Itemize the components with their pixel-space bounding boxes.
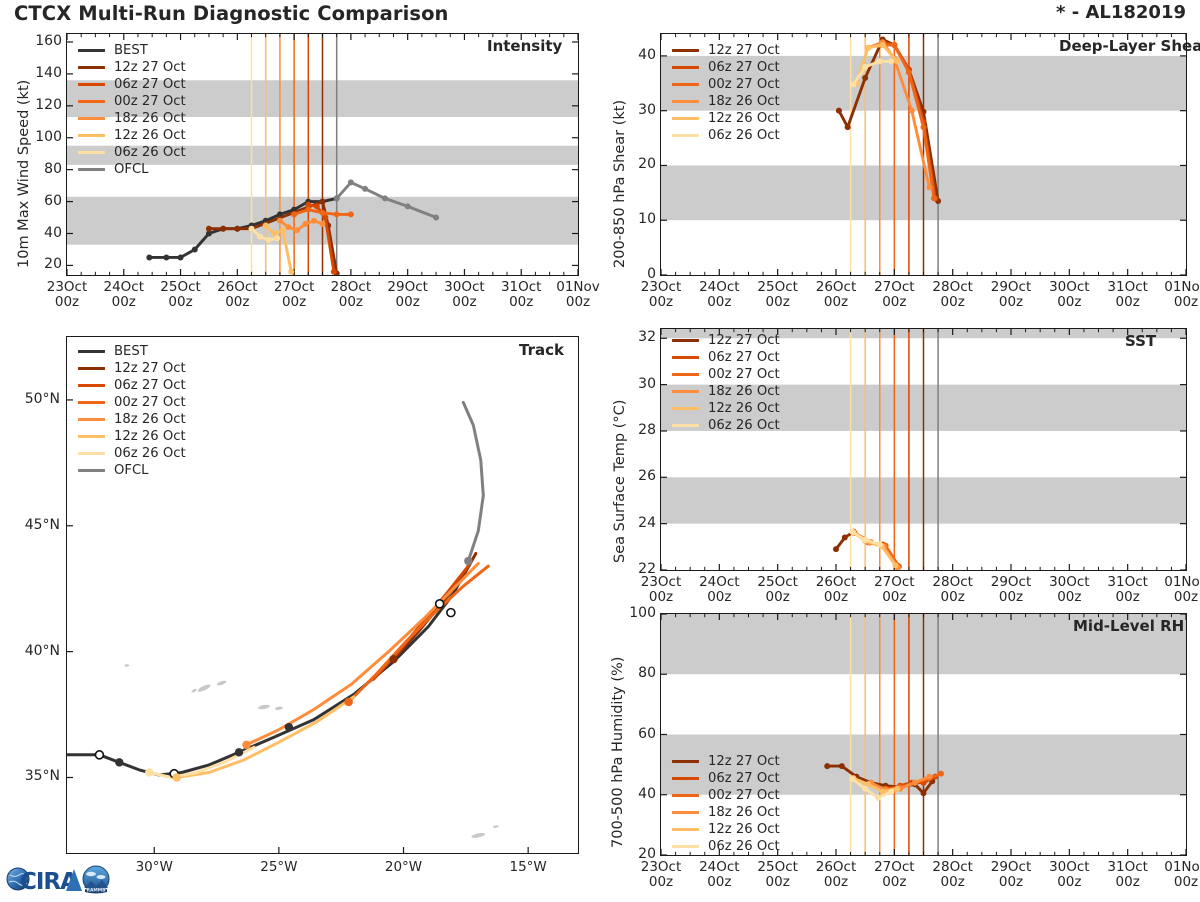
x-tick-label: 01Nov00z: [1156, 860, 1200, 890]
legend-swatch: [672, 373, 699, 377]
x-tick-label: 23Oct00z: [37, 280, 97, 310]
legend-swatch: [672, 760, 699, 764]
x-tick-label: 25Oct00z: [748, 280, 808, 310]
x-tick-label: 24Oct00z: [689, 575, 749, 605]
x-tick-label: 26Oct00z: [806, 280, 866, 310]
legend-item-18z-26-oct[interactable]: 18z 26 Oct: [672, 804, 780, 821]
x-tick-label: 31Oct00z: [1098, 575, 1158, 605]
lat-tick-label: 45°N: [10, 517, 60, 533]
legend-label: 06z 27 Oct: [708, 60, 780, 75]
legend-swatch: [78, 384, 105, 388]
x-tick-label: 27Oct00z: [864, 860, 924, 890]
legend-item-00z-27-oct[interactable]: 00z 27 Oct: [672, 76, 780, 93]
x-tick-label: 29Oct00z: [981, 280, 1041, 310]
x-tick-label: 30Oct00z: [1039, 575, 1099, 605]
lon-tick-label: 25°W: [249, 860, 309, 875]
legend-swatch: [78, 134, 105, 138]
x-tick-label: 23Oct00z: [631, 280, 691, 310]
legend-item-12z-26-oct[interactable]: 12z 26 Oct: [672, 400, 780, 417]
legend-swatch: [78, 418, 105, 422]
legend-item-06z-27-oct[interactable]: 06z 27 Oct: [672, 349, 780, 366]
legend-item-best[interactable]: BEST: [78, 343, 186, 360]
x-tick-label: 25Oct00z: [748, 575, 808, 605]
storm-id-label: * - AL182019: [1056, 2, 1186, 23]
legend-label: 12z 27 Oct: [114, 60, 186, 75]
rh-legend[interactable]: 12z 27 Oct06z 27 Oct00z 27 Oct18z 26 Oct…: [672, 753, 780, 855]
x-tick-label: 27Oct00z: [864, 575, 924, 605]
legend-item-best[interactable]: BEST: [78, 42, 186, 59]
legend-swatch: [672, 83, 699, 87]
y-tick-label: 40: [14, 225, 62, 241]
legend-label: 18z 26 Oct: [114, 412, 186, 427]
sst-legend[interactable]: 12z 27 Oct06z 27 Oct00z 27 Oct18z 26 Oct…: [672, 332, 780, 434]
legend-item-18z-26-oct[interactable]: 18z 26 Oct: [78, 411, 186, 428]
y-tick-label: 26: [608, 468, 656, 484]
legend-item-12z-27-oct[interactable]: 12z 27 Oct: [672, 42, 780, 59]
x-tick-label: 28Oct00z: [923, 860, 983, 890]
legend-label: 18z 26 Oct: [114, 111, 186, 126]
x-tick-label: 26Oct00z: [806, 860, 866, 890]
y-tick-label: 40: [608, 786, 656, 802]
legend-swatch: [78, 469, 105, 473]
y-tick-label: 100: [14, 129, 62, 145]
y-tick-label: 20: [14, 256, 62, 272]
legend-label: 12z 26 Oct: [708, 401, 780, 416]
y-tick-label: 10: [608, 211, 656, 227]
diagnostic-comparison-page: CTCX Multi-Run Diagnostic Comparison * -…: [0, 0, 1200, 900]
legend-swatch: [78, 66, 105, 70]
legend-label: 12z 26 Oct: [114, 128, 186, 143]
lon-tick-label: 15°W: [498, 860, 558, 875]
lat-tick-label: 50°N: [10, 391, 60, 407]
lat-tick-label: 40°N: [10, 643, 60, 659]
legend-item-12z-26-oct[interactable]: 12z 26 Oct: [672, 110, 780, 127]
y-tick-label: 30: [608, 376, 656, 392]
legend-label: 12z 27 Oct: [708, 333, 780, 348]
legend-item-12z-26-oct[interactable]: 12z 26 Oct: [78, 428, 186, 445]
legend-item-ofcl[interactable]: OFCL: [78, 161, 186, 178]
shear-panel-title: Deep-Layer Shear: [1059, 37, 1200, 55]
legend-swatch: [78, 350, 105, 354]
legend-swatch: [672, 407, 699, 411]
legend-label: OFCL: [114, 463, 149, 478]
x-tick-label: 31Oct00z: [1098, 280, 1158, 310]
y-tick-label: 28: [608, 422, 656, 438]
x-tick-label: 29Oct00z: [981, 860, 1041, 890]
x-tick-label: 25Oct00z: [748, 860, 808, 890]
legend-label: 18z 26 Oct: [708, 384, 780, 399]
y-tick-label: 60: [14, 193, 62, 209]
legend-swatch: [672, 117, 699, 121]
legend-label: 12z 27 Oct: [114, 361, 186, 376]
legend-item-18z-26-oct[interactable]: 18z 26 Oct: [78, 110, 186, 127]
legend-label: 06z 27 Oct: [708, 350, 780, 365]
legend-swatch: [78, 49, 105, 53]
legend-item-00z-27-oct[interactable]: 00z 27 Oct: [78, 93, 186, 110]
legend-item-12z-26-oct[interactable]: 12z 26 Oct: [78, 127, 186, 144]
svg-text:RAMMB: RAMMB: [87, 888, 107, 894]
legend-item-06z-26-oct[interactable]: 06z 26 Oct: [672, 127, 780, 144]
y-tick-label: 100: [608, 605, 656, 621]
x-tick-label: 01Nov00z: [1156, 280, 1200, 310]
y-tick-label: 140: [14, 65, 62, 81]
x-tick-label: 24Oct00z: [94, 280, 154, 310]
legend-label: 06z 26 Oct: [708, 128, 780, 143]
legend-swatch: [78, 367, 105, 371]
legend-label: 12z 26 Oct: [708, 111, 780, 126]
y-tick-label: 80: [608, 665, 656, 681]
shear-y-axis-label: 200-850 hPa Shear (kt): [612, 100, 628, 268]
x-tick-label: 24Oct00z: [689, 280, 749, 310]
x-tick-label: 30Oct00z: [434, 280, 494, 310]
legend-swatch: [672, 777, 699, 781]
legend-swatch: [78, 168, 105, 172]
page-title: CTCX Multi-Run Diagnostic Comparison: [14, 2, 449, 25]
track-legend[interactable]: BEST12z 27 Oct06z 27 Oct00z 27 Oct18z 26…: [78, 343, 186, 479]
rh-y-axis-label: 700-500 hPa Humidity (%): [610, 657, 626, 848]
legend-item-06z-26-oct[interactable]: 06z 26 Oct: [672, 838, 780, 855]
legend-item-12z-27-oct[interactable]: 12z 27 Oct: [78, 59, 186, 76]
legend-label: 12z 27 Oct: [708, 43, 780, 58]
legend-label: 00z 27 Oct: [708, 77, 780, 92]
legend-swatch: [672, 356, 699, 360]
x-tick-label: 26Oct00z: [806, 575, 866, 605]
legend-item-06z-27-oct[interactable]: 06z 27 Oct: [672, 770, 780, 787]
legend-swatch: [672, 794, 699, 798]
legend-item-12z-27-oct[interactable]: 12z 27 Oct: [672, 332, 780, 349]
y-tick-label: 30: [608, 102, 656, 118]
legend-swatch: [672, 49, 699, 53]
x-tick-label: 01Nov00z: [548, 280, 608, 310]
legend-item-18z-26-oct[interactable]: 18z 26 Oct: [672, 383, 780, 400]
legend-swatch: [672, 66, 699, 70]
x-tick-label: 29Oct00z: [378, 280, 438, 310]
lat-tick-label: 35°N: [10, 768, 60, 784]
rh-panel-title: Mid-Level RH: [1073, 617, 1184, 635]
legend-swatch: [78, 83, 105, 87]
legend-swatch: [672, 828, 699, 832]
legend-label: 18z 26 Oct: [708, 94, 780, 109]
x-tick-label: 28Oct00z: [321, 280, 381, 310]
x-tick-label: 30Oct00z: [1039, 860, 1099, 890]
track-panel-title: Track: [519, 341, 564, 359]
legend-label: OFCL: [114, 162, 149, 177]
y-tick-label: 40: [608, 47, 656, 63]
sst-panel-title: SST: [1125, 332, 1156, 350]
legend-label: 00z 27 Oct: [114, 395, 186, 410]
x-tick-label: 28Oct00z: [923, 575, 983, 605]
legend-label: 06z 27 Oct: [114, 77, 186, 92]
legend-item-06z-27-oct[interactable]: 06z 27 Oct: [78, 76, 186, 93]
legend-swatch: [672, 390, 699, 394]
legend-item-12z-27-oct[interactable]: 12z 27 Oct: [78, 360, 186, 377]
legend-item-ofcl[interactable]: OFCL: [78, 462, 186, 479]
intensity-panel-title: Intensity: [487, 37, 562, 55]
legend-item-06z-26-oct[interactable]: 06z 26 Oct: [78, 445, 186, 462]
shear-legend[interactable]: 12z 27 Oct06z 27 Oct00z 27 Oct18z 26 Oct…: [672, 42, 780, 144]
legend-swatch: [78, 151, 105, 155]
legend-label: 06z 27 Oct: [708, 771, 780, 786]
x-tick-label: 26Oct00z: [207, 280, 267, 310]
y-tick-label: 160: [14, 33, 62, 49]
legend-label: BEST: [114, 43, 148, 58]
legend-swatch: [672, 339, 699, 343]
legend-swatch: [78, 435, 105, 439]
x-tick-label: 24Oct00z: [689, 860, 749, 890]
x-tick-label: 23Oct00z: [631, 860, 691, 890]
legend-label: 00z 27 Oct: [114, 94, 186, 109]
legend-swatch: [672, 134, 699, 138]
legend-label: 06z 26 Oct: [114, 446, 186, 461]
legend-label: 12z 26 Oct: [708, 822, 780, 837]
legend-swatch: [672, 845, 699, 849]
x-tick-label: 01Nov00z: [1156, 575, 1200, 605]
legend-swatch: [672, 100, 699, 104]
legend-item-06z-26-oct[interactable]: 06z 26 Oct: [78, 144, 186, 161]
legend-label: 06z 26 Oct: [708, 418, 780, 433]
legend-item-06z-27-oct[interactable]: 06z 27 Oct: [672, 59, 780, 76]
x-tick-label: 31Oct00z: [491, 280, 551, 310]
legend-item-06z-27-oct[interactable]: 06z 27 Oct: [78, 377, 186, 394]
y-tick-label: 60: [608, 726, 656, 742]
intensity-legend[interactable]: BEST12z 27 Oct06z 27 Oct00z 27 Oct18z 26…: [78, 42, 186, 178]
y-tick-label: 32: [608, 329, 656, 345]
legend-item-18z-26-oct[interactable]: 18z 26 Oct: [672, 93, 780, 110]
legend-label: 06z 26 Oct: [708, 839, 780, 854]
legend-label: 00z 27 Oct: [708, 788, 780, 803]
legend-item-12z-26-oct[interactable]: 12z 26 Oct: [672, 821, 780, 838]
x-tick-label: 30Oct00z: [1039, 280, 1099, 310]
legend-swatch: [78, 100, 105, 104]
y-tick-label: 20: [608, 156, 656, 172]
x-tick-label: 27Oct00z: [864, 280, 924, 310]
x-tick-label: 31Oct00z: [1098, 860, 1158, 890]
legend-swatch: [78, 117, 105, 121]
legend-label: 06z 26 Oct: [114, 145, 186, 160]
legend-label: 18z 26 Oct: [708, 805, 780, 820]
legend-label: 06z 27 Oct: [114, 378, 186, 393]
legend-item-12z-27-oct[interactable]: 12z 27 Oct: [672, 753, 780, 770]
legend-item-00z-27-oct[interactable]: 00z 27 Oct: [672, 366, 780, 383]
cira-logo: CIRA RAMMB: [6, 861, 114, 898]
legend-swatch: [672, 811, 699, 815]
legend-swatch: [78, 401, 105, 405]
x-tick-label: 28Oct00z: [923, 280, 983, 310]
lon-tick-label: 30°W: [124, 860, 184, 875]
legend-item-00z-27-oct[interactable]: 00z 27 Oct: [672, 787, 780, 804]
legend-label: 00z 27 Oct: [708, 367, 780, 382]
x-tick-label: 23Oct00z: [631, 575, 691, 605]
legend-swatch: [672, 424, 699, 428]
x-tick-label: 27Oct00z: [264, 280, 324, 310]
legend-item-00z-27-oct[interactable]: 00z 27 Oct: [78, 394, 186, 411]
legend-label: 12z 26 Oct: [114, 429, 186, 444]
lon-tick-label: 20°W: [374, 860, 434, 875]
y-tick-label: 24: [608, 515, 656, 531]
legend-item-06z-26-oct[interactable]: 06z 26 Oct: [672, 417, 780, 434]
x-tick-label: 25Oct00z: [151, 280, 211, 310]
y-tick-label: 80: [14, 161, 62, 177]
y-tick-label: 120: [14, 97, 62, 113]
legend-label: BEST: [114, 344, 148, 359]
legend-swatch: [78, 452, 105, 456]
legend-label: 12z 27 Oct: [708, 754, 780, 769]
x-tick-label: 29Oct00z: [981, 575, 1041, 605]
